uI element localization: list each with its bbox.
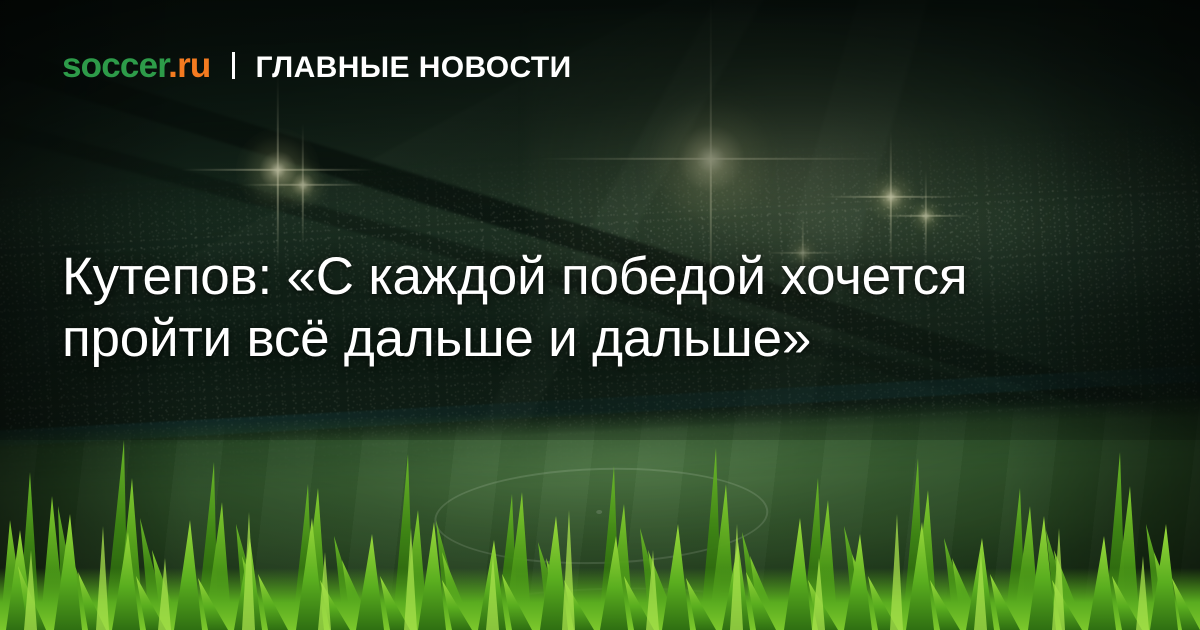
- article-headline: Кутепов: «С каждой победой хочется пройт…: [62, 246, 1137, 370]
- headline-line-1: Кутепов: «С каждой победой хочется: [62, 246, 1137, 308]
- site-header: soccer.ru ГЛАВНЫЕ НОВОСТИ: [62, 48, 572, 83]
- share-card: soccer.ru ГЛАВНЫЕ НОВОСТИ Кутепов: «С ка…: [0, 0, 1200, 630]
- logo-text-primary: soccer: [62, 46, 168, 85]
- header-separator: [232, 52, 235, 79]
- site-logo[interactable]: soccer.ru: [62, 48, 210, 83]
- headline-line-2: пройти всё дальше и дальше»: [62, 308, 1137, 370]
- logo-text-suffix: .ru: [168, 46, 210, 85]
- header-kicker: ГЛАВНЫЕ НОВОСТИ: [255, 53, 571, 83]
- football-pitch: [0, 391, 1200, 630]
